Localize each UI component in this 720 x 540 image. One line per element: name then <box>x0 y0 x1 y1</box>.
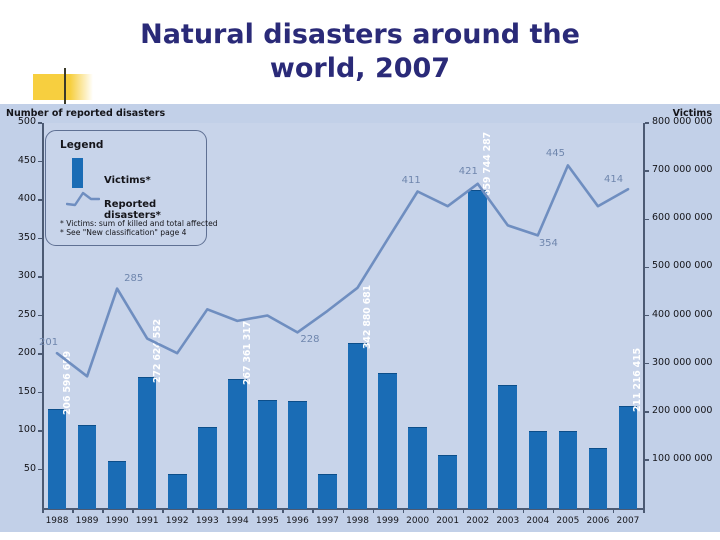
x-axis-label: 1995 <box>252 516 282 526</box>
x-axis-label: 1993 <box>192 516 222 526</box>
line-value-label-2002: 421 <box>459 166 478 177</box>
line-value-label-2000: 411 <box>402 175 421 186</box>
legend-disasters-line-icon <box>66 191 100 207</box>
line-value-label-1990: 285 <box>124 273 143 284</box>
x-axis-label: 1994 <box>222 516 252 526</box>
legend-disasters-label: Reported disasters* <box>104 199 206 221</box>
x-axis-label: 1989 <box>72 516 102 526</box>
x-axis-label: 2000 <box>403 516 433 526</box>
x-axis-label: 1992 <box>162 516 192 526</box>
title-line-2: world, 2007 <box>0 52 720 86</box>
legend-footnote-2: * See "New classification" page 4 <box>60 228 187 237</box>
legend-victims-label: Victims* <box>104 175 151 186</box>
legend-footnote-1: * Victims: sum of killed and total affec… <box>60 219 218 228</box>
line-value-label-2007: 414 <box>604 174 623 185</box>
legend-title: Legend <box>60 139 103 151</box>
x-axis-label: 1991 <box>132 516 162 526</box>
x-axis-label: 2006 <box>583 516 613 526</box>
title-line-1: Natural disasters around the <box>140 19 580 50</box>
x-axis-label: 1988 <box>42 516 72 526</box>
x-axis-label: 1998 <box>343 516 373 526</box>
x-axis-label: 2005 <box>553 516 583 526</box>
x-axis-label: 2007 <box>613 516 643 526</box>
slide: Natural disasters around the world, 2007… <box>0 0 720 540</box>
x-axis-label: 2002 <box>463 516 493 526</box>
chart-panel: Number of reported disasters Victims 501… <box>0 104 720 532</box>
x-axis-label: 1997 <box>312 516 342 526</box>
page-title: Natural disasters around the world, 2007 <box>0 18 720 86</box>
x-axis-label: 2001 <box>433 516 463 526</box>
line-value-label-1988: 201 <box>39 337 58 348</box>
legend-victims-swatch <box>72 158 83 188</box>
bottom-strip <box>0 532 720 540</box>
line-value-label-2004: 354 <box>539 238 558 249</box>
yellow-accent-block <box>33 74 93 100</box>
legend-box: Legend Victims* Reported disasters* * Vi… <box>45 130 207 246</box>
x-axis-label: 2004 <box>523 516 553 526</box>
line-value-label-1996: 228 <box>300 334 319 345</box>
x-axis-label: 1999 <box>373 516 403 526</box>
x-axis-label: 1996 <box>282 516 312 526</box>
x-axis-label: 1990 <box>102 516 132 526</box>
line-value-label-2005: 445 <box>546 148 565 159</box>
accent-vertical-rule <box>64 68 66 104</box>
x-axis-label: 2003 <box>493 516 523 526</box>
